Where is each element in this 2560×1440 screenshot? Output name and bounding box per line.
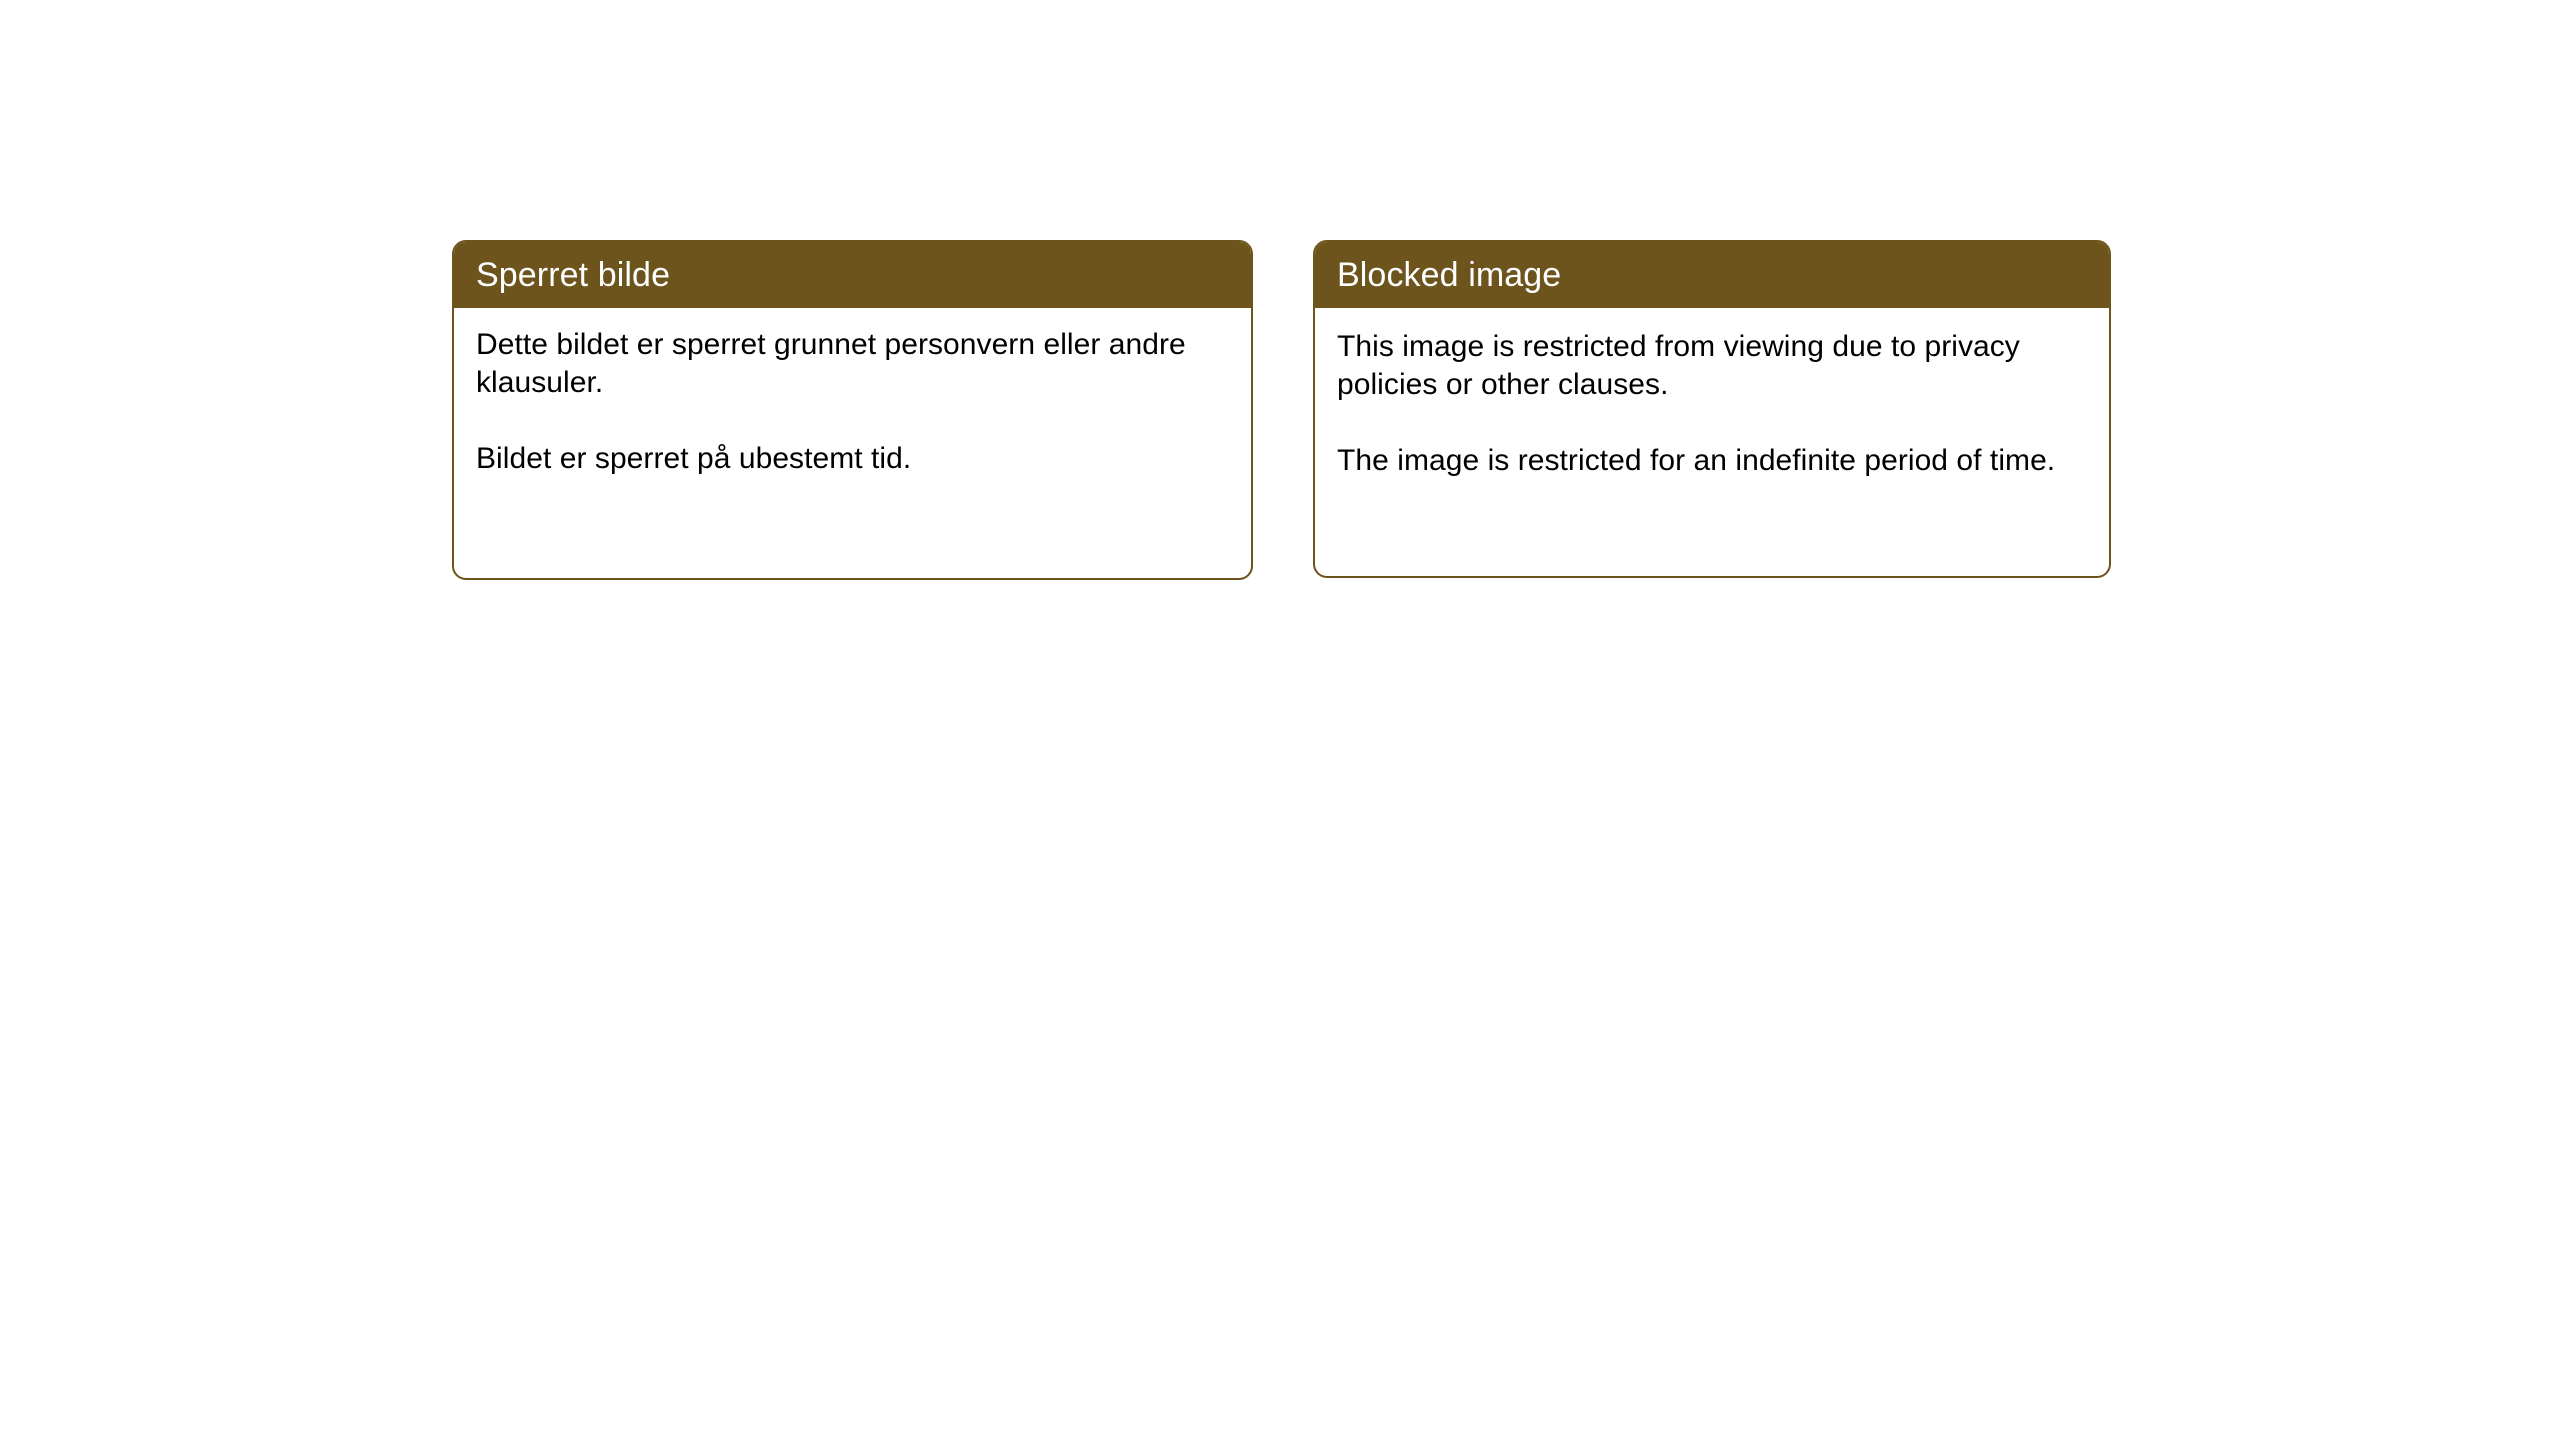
card-body-no: Dette bildet er sperret grunnet personve… [454,308,1251,578]
page-root: Sperret bilde Dette bildet er sperret gr… [0,0,2560,1440]
card-paragraph-secondary-en: The image is restricted for an indefinit… [1337,442,2087,480]
blocked-image-notice-card-en: Blocked image This image is restricted f… [1313,240,2111,578]
card-paragraph-secondary-no: Bildet er sperret på ubestemt tid. [476,440,1229,478]
card-header-en: Blocked image [1315,242,2109,308]
card-header-no: Sperret bilde [454,242,1251,308]
card-paragraph-primary-no: Dette bildet er sperret grunnet personve… [476,326,1229,402]
card-title-en: Blocked image [1337,255,1561,295]
card-title-no: Sperret bilde [476,255,670,295]
notice-card-row: Sperret bilde Dette bildet er sperret gr… [452,240,2111,580]
blocked-image-notice-card-no: Sperret bilde Dette bildet er sperret gr… [452,240,1253,580]
card-paragraph-primary-en: This image is restricted from viewing du… [1337,328,2087,404]
card-body-en: This image is restricted from viewing du… [1315,308,2109,576]
